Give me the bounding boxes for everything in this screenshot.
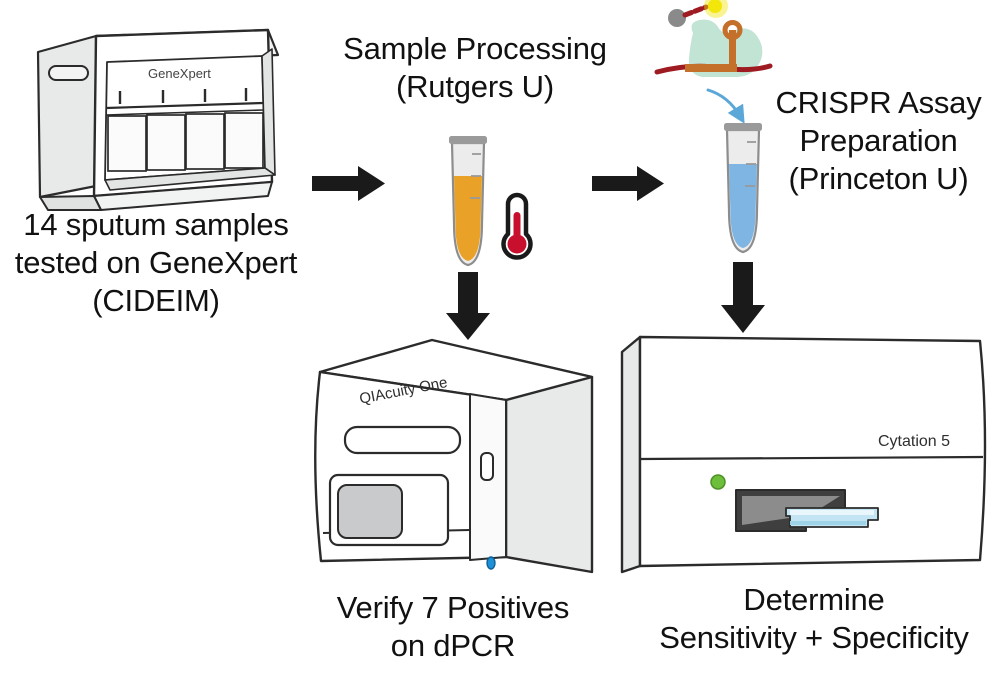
cytation-device-label: Cytation 5 [878, 433, 950, 451]
tube-liquid-blue [729, 164, 757, 248]
genexpert-handle [49, 66, 88, 80]
genexpert-bay-1 [108, 116, 146, 171]
genexpert-right-inner [262, 49, 275, 175]
cytation-instrument [622, 337, 985, 572]
arrow-right-icon-2 [592, 166, 664, 201]
readout-caption: Determine Sensitivity + Specificity [628, 581, 1000, 657]
genexpert-caption: 14 sputum samples tested on GeneXpert (C… [0, 206, 312, 320]
tube-cap-orange [449, 136, 487, 144]
thermometer-icon [503, 195, 530, 258]
crispr-complex-icon [657, 0, 770, 77]
qiacuity-power-led [487, 557, 495, 569]
arrow-right-icon-1 [312, 166, 385, 201]
crispr-assay-heading: CRISPR Assay Preparation (Princeton U) [757, 84, 1000, 198]
tube-liquid-orange [454, 176, 482, 261]
genexpert-bay-3 [186, 114, 224, 169]
sample-processing-heading: Sample Processing (Rutgers U) [325, 30, 625, 106]
sample-processing-tube [449, 136, 487, 265]
qiacuity-door-window [338, 485, 402, 538]
dpcr-caption: Verify 7 Positives on dPCR [308, 589, 598, 665]
genexpert-bay-2 [147, 115, 185, 170]
cytation-side-panel [622, 337, 640, 572]
genexpert-module-bays [108, 113, 263, 171]
cytation-microplate-highlight [790, 510, 874, 515]
arrow-down-icon-2 [721, 262, 765, 333]
qiacuity-display-slot [345, 427, 460, 453]
genexpert-side-panel [38, 36, 96, 197]
arrow-down-icon-1 [446, 272, 490, 340]
cytation-front-face [640, 337, 985, 566]
workflow-diagram-canvas: GeneXpert 14 sputum samples tested on Ge… [0, 0, 1000, 695]
qiacuity-side-button[interactable] [481, 453, 493, 480]
genexpert-device-label: GeneXpert [148, 66, 211, 81]
curved-arrow-icon [708, 90, 740, 116]
reporter-linker [685, 7, 706, 15]
quencher-bead [668, 9, 686, 27]
thermometer-mercury [514, 212, 521, 242]
genexpert-instrument [38, 30, 278, 210]
cytation-microplate-lip [790, 521, 866, 525]
genexpert-bay-4 [225, 113, 263, 168]
cytation-status-led [711, 475, 725, 489]
qiacuity-instrument [315, 340, 592, 572]
